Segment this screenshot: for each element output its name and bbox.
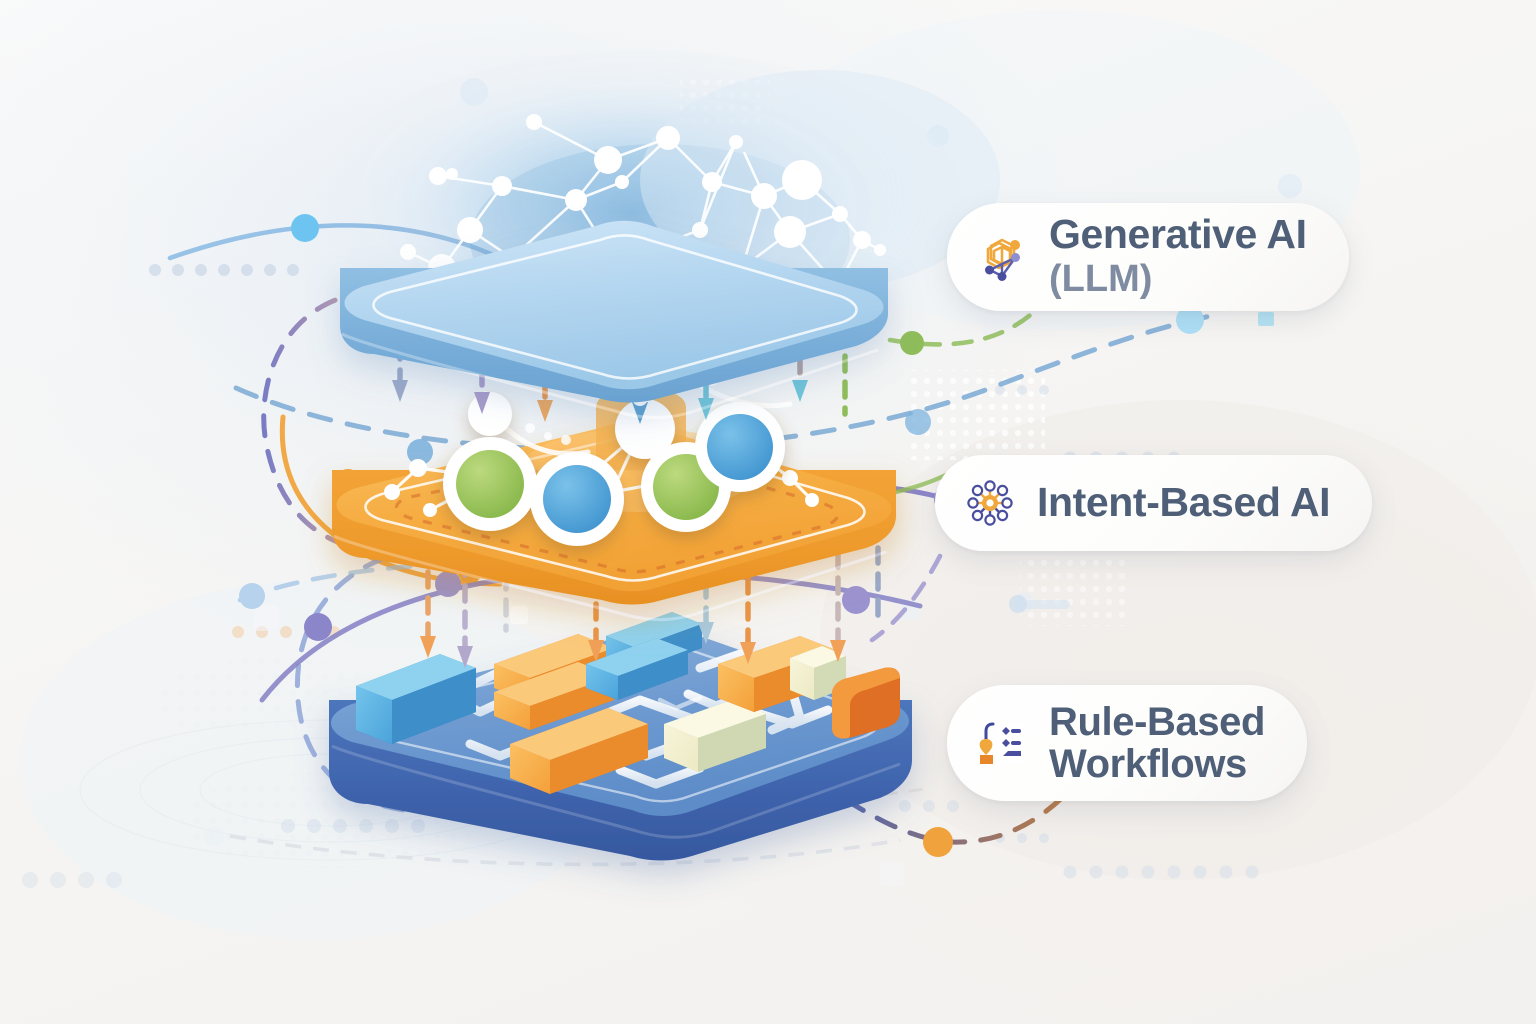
label-rule-based-workflows-line2: Workflows xyxy=(1049,743,1265,785)
label-rule-based-workflows-line1: Rule-Based xyxy=(1049,700,1265,744)
label-generative-ai-title: Generative AI xyxy=(1049,211,1307,257)
label-intent-based-ai-text: Intent-Based AI xyxy=(1037,481,1330,524)
label-rule-based-workflows-text: Rule-Based Workflows xyxy=(1049,701,1265,786)
diagram-canvas: Generative AI (LLM) Intent-Based AI xyxy=(0,0,1536,1024)
hub-spoke-icon xyxy=(963,476,1017,530)
label-intent-based-ai-title: Intent-Based AI xyxy=(1037,479,1330,525)
label-generative-ai-text: Generative AI (LLM) xyxy=(1049,213,1307,301)
label-generative-ai[interactable]: Generative AI (LLM) xyxy=(947,203,1349,311)
label-generative-ai-sub: (LLM) xyxy=(1049,258,1307,301)
cube-network-icon xyxy=(975,230,1029,284)
label-intent-based-ai[interactable]: Intent-Based AI xyxy=(935,455,1372,551)
label-rule-based-workflows[interactable]: Rule-Based Workflows xyxy=(947,685,1307,801)
checklist-person-icon xyxy=(975,716,1029,770)
